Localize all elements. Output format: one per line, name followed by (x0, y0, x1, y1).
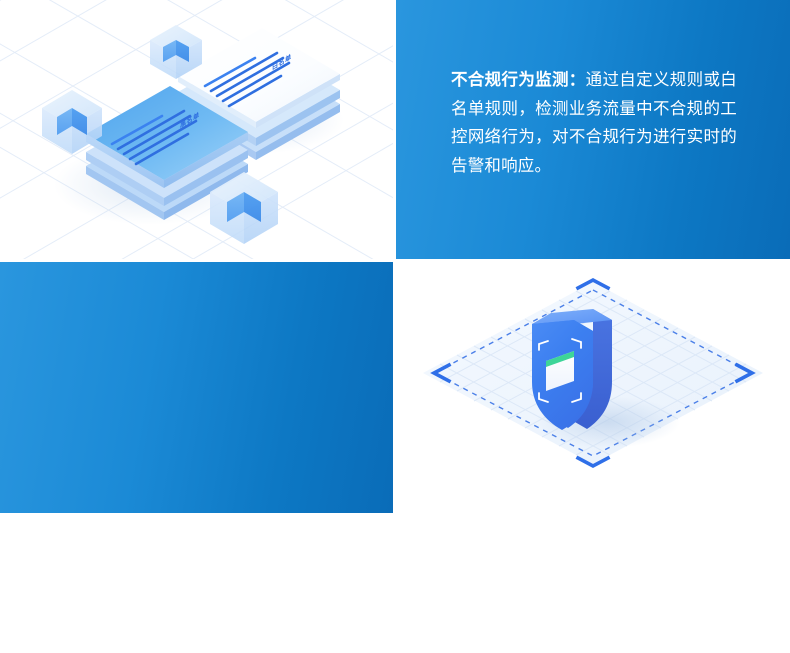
compliance-lead: 不合规行为监测： (451, 71, 586, 89)
panel-whitelist-blacklist-illustration: 白名单 黑名单 (0, 0, 393, 259)
panel-security-shield-illustration (396, 262, 790, 513)
compliance-text-block: 不合规行为监测：通过自定义规则或白名单规则，检测业务流量中不合规的工控网络行为，… (451, 66, 737, 180)
isometric-scene-docs: 白名单 黑名单 (0, 0, 393, 259)
shield-scene-svg (396, 262, 790, 513)
compliance-paragraph: 不合规行为监测：通过自定义规则或白名单规则，检测业务流量中不合规的工控网络行为，… (451, 66, 737, 180)
panel-compliance-monitoring: 不合规行为监测：通过自定义规则或白名单规则，检测业务流量中不合规的工控网络行为，… (396, 0, 790, 259)
isometric-grid (0, 0, 393, 259)
isometric-scene-shield (396, 262, 790, 513)
panel-intrusion-detection: 入侵监测：内置工控漏洞库和建立工控行为白名单安全基线，实时检测工控网络中的攻击行… (0, 262, 393, 513)
shield-icon (532, 309, 612, 430)
page-canvas: 白名单 黑名单 不合规行为监测：通过自定义规则或白名单规则，检测业务流量中不合规… (0, 0, 790, 653)
